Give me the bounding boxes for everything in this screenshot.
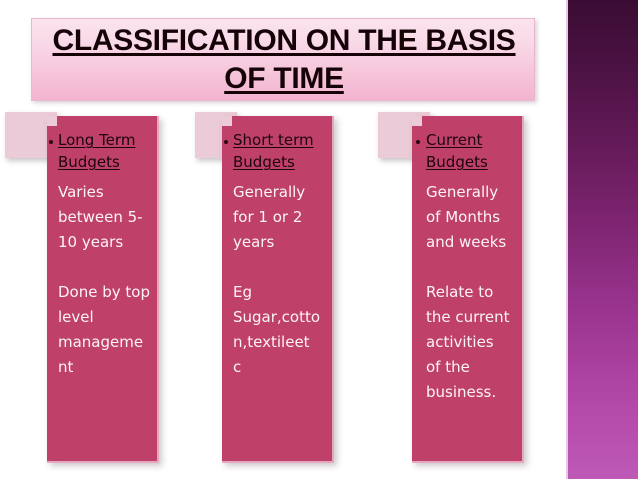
column-text-current-2: Relate to the current activities of the … — [426, 280, 524, 405]
bullet-icon-short-term — [224, 140, 228, 144]
page-title: CLASSIFICATION ON THE BASIS OF TIME — [32, 22, 536, 98]
panel-short-term[interactable]: Short term Budgets Generally for 1 or 2 … — [222, 116, 334, 463]
panel-long-term[interactable]: Long Term Budgets Varies between 5- 10 y… — [47, 116, 159, 463]
column-text-short-term-2: Eg Sugar,cotto n,textileet c — [233, 280, 333, 380]
column-heading-short-term: Short term Budgets — [233, 129, 333, 173]
slide-canvas: CLASSIFICATION ON THE BASIS OF TIME Long… — [0, 0, 638, 479]
bullet-icon-current — [416, 140, 420, 144]
column-text-long-term-2: Done by top level manageme nt — [58, 280, 156, 380]
notch-current — [412, 116, 422, 126]
column-text-long-term-1: Varies between 5- 10 years — [58, 180, 156, 255]
notch-short-term — [222, 116, 232, 126]
column-heading-long-term: Long Term Budgets — [58, 129, 154, 173]
notch-long-term — [47, 116, 57, 126]
decorative-purple-band — [568, 0, 638, 479]
column-heading-current: Current Budgets — [426, 129, 522, 173]
panel-current[interactable]: Current Budgets Generally of Months and … — [412, 116, 524, 463]
column-text-current-1: Generally of Months and weeks — [426, 180, 524, 255]
column-text-short-term-1: Generally for 1 or 2 years — [233, 180, 333, 255]
bullet-icon-long-term — [49, 140, 53, 144]
slide-title-box: CLASSIFICATION ON THE BASIS OF TIME — [31, 18, 535, 101]
